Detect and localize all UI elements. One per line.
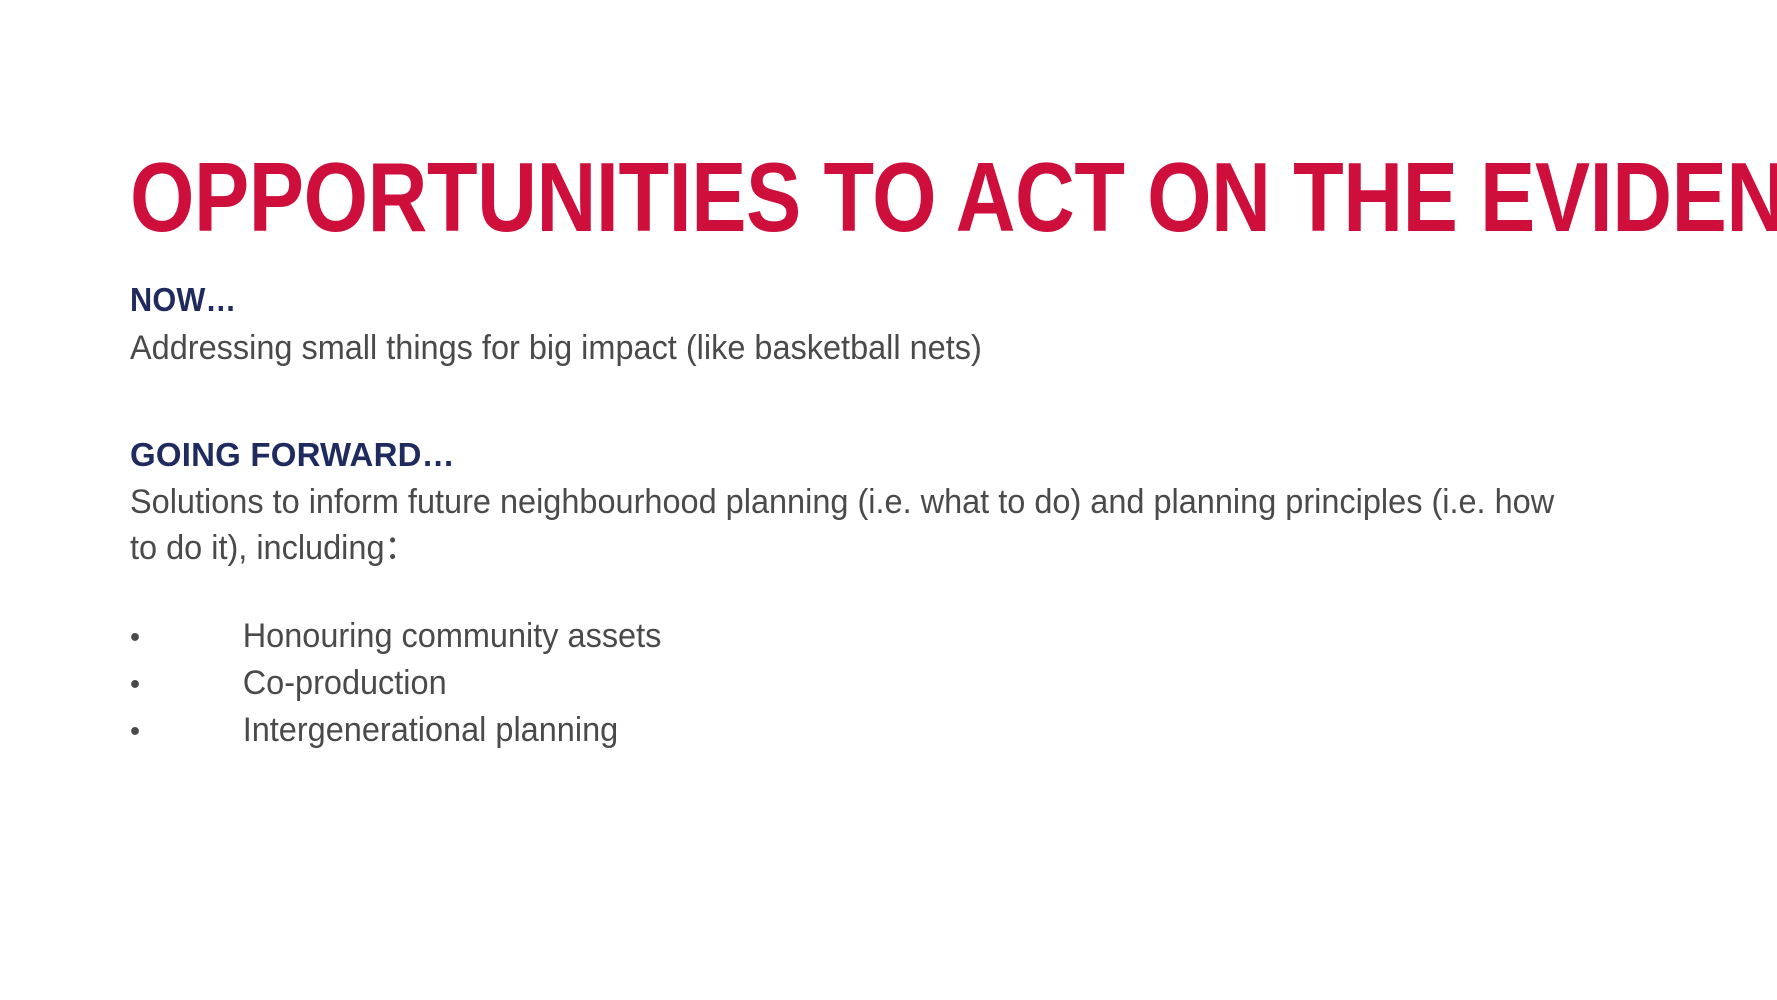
list-item-label: Honouring community assets <box>243 613 662 660</box>
list-item-label: Co-production <box>243 660 447 707</box>
list-item: • Intergenerational planning <box>130 707 1582 754</box>
bullet-spacer <box>130 571 1650 613</box>
section-body-now: Addressing small things for big impact (… <box>130 326 1582 371</box>
bullet-icon: • <box>130 711 243 752</box>
list-item: • Honouring community assets <box>130 613 1582 660</box>
section-body-going-forward: Solutions to inform future neighbourhood… <box>130 480 1582 570</box>
section-heading-going-forward: GOING FORWARD… <box>130 433 1650 477</box>
bullet-icon: • <box>130 664 243 705</box>
bullet-list: • Honouring community assets • Co-produc… <box>130 613 1582 754</box>
slide-canvas: OPPORTUNITIES TO ACT ON THE EVIDENCE NOW… <box>0 0 1777 1000</box>
list-item: • Co-production <box>130 660 1582 707</box>
section-now: NOW… Addressing small things for big imp… <box>130 278 1650 371</box>
page-title: OPPORTUNITIES TO ACT ON THE EVIDENCE <box>130 148 1364 246</box>
slide-body: NOW… Addressing small things for big imp… <box>130 278 1650 753</box>
list-item-label: Intergenerational planning <box>243 707 619 754</box>
bullet-icon: • <box>130 617 243 658</box>
section-spacer <box>130 371 1650 433</box>
section-heading-now: NOW… <box>130 278 1544 322</box>
section-going-forward: GOING FORWARD… Solutions to inform futur… <box>130 433 1650 571</box>
